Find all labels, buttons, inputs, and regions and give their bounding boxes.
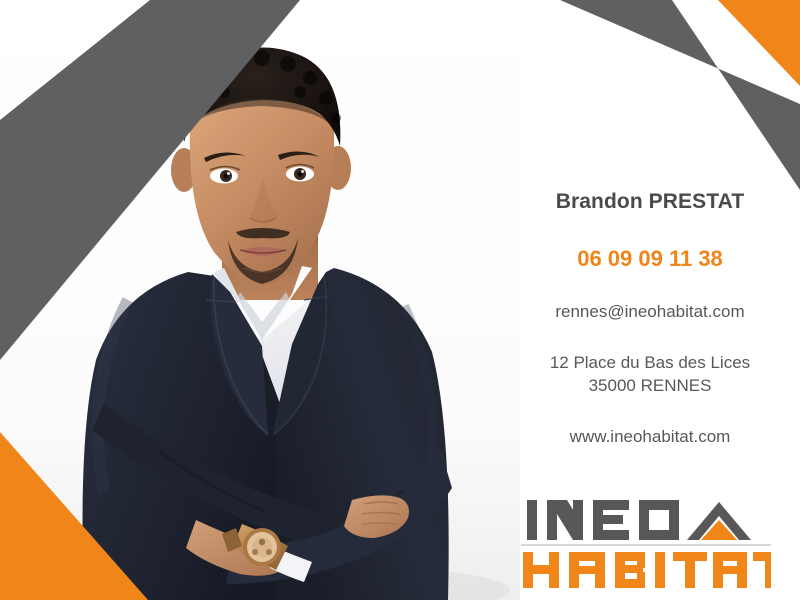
portrait-illustration [0,0,520,600]
logo-word-habitat [523,552,771,588]
contact-block: Brandon PRESTAT 06 09 09 11 38 rennes@in… [500,190,800,447]
logo-divider [521,544,771,546]
address-line-1: 12 Place du Bas des Lices [500,352,800,375]
address-line-2: 35000 RENNES [500,375,800,398]
roof-chevron-icon [687,502,751,540]
logo-artwork [521,492,771,592]
top-right-gray-stripe [560,0,800,190]
portrait-photo [0,0,520,600]
business-card: Brandon PRESTAT 06 09 09 11 38 rennes@in… [0,0,800,600]
logo-word-ineo [527,500,679,540]
contact-name: Brandon PRESTAT [500,190,800,213]
contact-address: 12 Place du Bas des Lices 35000 RENNES [500,352,800,398]
contact-website[interactable]: www.ineohabitat.com [500,428,800,447]
top-right-orange-triangle [718,0,800,86]
company-logo[interactable] [521,492,771,592]
contact-phone[interactable]: 06 09 09 11 38 [500,247,800,271]
contact-email[interactable]: rennes@ineohabitat.com [500,303,800,322]
